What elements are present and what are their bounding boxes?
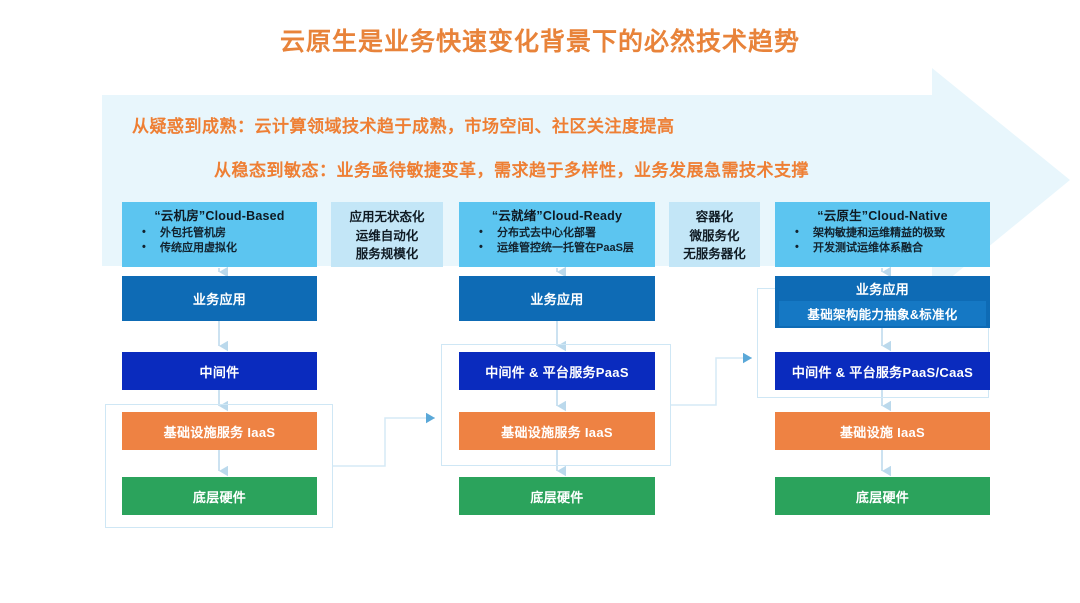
header-mid-line: 应用无状态化 [339, 208, 435, 227]
header-bullet: 架构敏捷和运维精益的极致 [793, 226, 982, 241]
header-title-cloud-native: “云原生”Cloud-Native [783, 208, 982, 225]
col2-business-application[interactable]: 业务应用 [459, 276, 655, 321]
col1-iaas[interactable]: 基础设施服务 IaaS [122, 412, 317, 450]
col1-hardware[interactable]: 底层硬件 [122, 477, 317, 515]
header-card-stateless[interactable]: 应用无状态化 运维自动化 服务规模化 [331, 202, 443, 267]
header-bullet: 外包托管机房 [140, 226, 309, 241]
col3-infrastructure-abstraction[interactable]: 基础架构能力抽象&标准化 [779, 301, 986, 326]
header-mid-line: 微服务化 [677, 227, 752, 246]
col2-hardware[interactable]: 底层硬件 [459, 477, 655, 515]
connector-col2-col3 [671, 358, 752, 405]
header-mid-line: 无服务器化 [677, 245, 752, 264]
col1-middleware[interactable]: 中间件 [122, 352, 317, 390]
header-bullet: 传统应用虚拟化 [140, 241, 309, 256]
header-title-cloud-based: “云机房”Cloud-Based [130, 208, 309, 225]
header-bullets-cloud-ready: 分布式去中心化部署 运维管控统一托管在PaaS层 [477, 226, 647, 256]
header-mid-line: 运维自动化 [339, 227, 435, 246]
col3-middleware-paas-caas[interactable]: 中间件 & 平台服务PaaS/CaaS [775, 352, 990, 390]
header-title-cloud-ready: “云就绪”Cloud-Ready [467, 208, 647, 225]
header-card-containerization[interactable]: 容器化 微服务化 无服务器化 [669, 202, 760, 267]
page-title: 云原生是业务快速变化背景下的必然技术趋势 [0, 22, 1080, 58]
header-card-cloud-based[interactable]: “云机房”Cloud-Based 外包托管机房 传统应用虚拟化 [122, 202, 317, 267]
header-bullets-cloud-based: 外包托管机房 传统应用虚拟化 [140, 226, 309, 256]
header-mid-line: 容器化 [677, 208, 752, 227]
banner-line-1: 从疑惑到成熟：云计算领域技术趋于成熟，市场空间、社区关注度提高 [132, 112, 675, 137]
header-mid-line: 服务规模化 [339, 245, 435, 264]
header-bullet: 开发测试运维体系融合 [793, 241, 982, 256]
header-bullet: 分布式去中心化部署 [477, 226, 647, 241]
header-bullets-cloud-native: 架构敏捷和运维精益的极致 开发测试运维体系融合 [793, 226, 982, 256]
col2-middleware-paas[interactable]: 中间件 & 平台服务PaaS [459, 352, 655, 390]
header-bullet: 运维管控统一托管在PaaS层 [477, 241, 647, 256]
col3-iaas[interactable]: 基础设施 IaaS [775, 412, 990, 450]
col1-business-application[interactable]: 业务应用 [122, 276, 317, 321]
col3-hardware[interactable]: 底层硬件 [775, 477, 990, 515]
col2-iaas[interactable]: 基础设施服务 IaaS [459, 412, 655, 450]
banner-line-2: 从稳态到敏态：业务亟待敏捷变革，需求趋于多样性，业务发展急需技术支撑 [214, 156, 809, 181]
header-card-cloud-ready[interactable]: “云就绪”Cloud-Ready 分布式去中心化部署 运维管控统一托管在PaaS… [459, 202, 655, 267]
header-card-cloud-native[interactable]: “云原生”Cloud-Native 架构敏捷和运维精益的极致 开发测试运维体系融… [775, 202, 990, 267]
connector-col1-col2 [333, 418, 435, 466]
